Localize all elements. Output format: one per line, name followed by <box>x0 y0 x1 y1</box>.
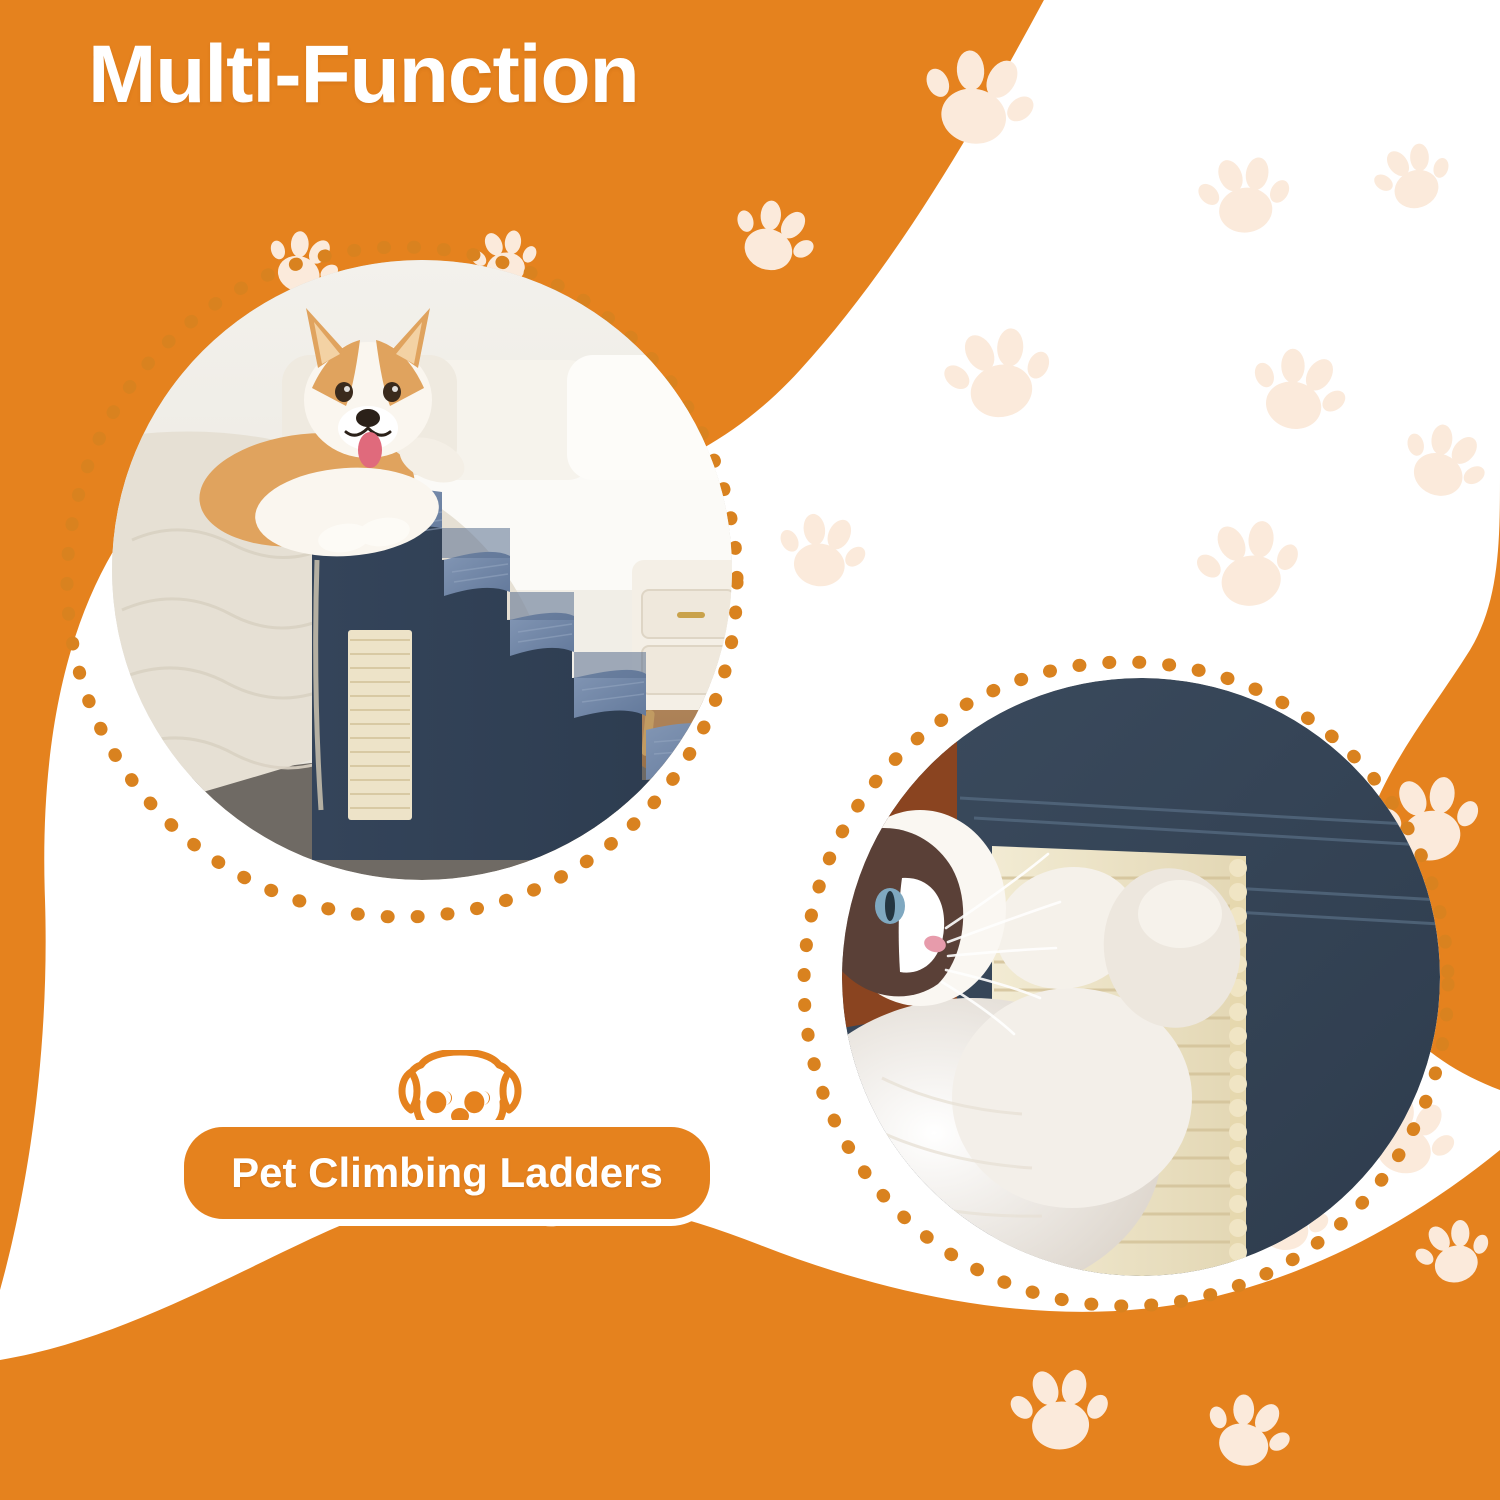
photo-dog-on-stairs <box>112 260 732 880</box>
feature-card-cat-scratcher[interactable]: Cat Scratcher <box>790 648 1462 1320</box>
feature-card-pet-climbing-ladders[interactable]: Pet Climbing Ladders <box>52 232 752 932</box>
photo-cat-scratching <box>842 678 1440 1276</box>
page-title: Multi-Function <box>88 28 639 122</box>
promo-banner: Pet Climbing Ladders <box>0 0 1500 1500</box>
label-pill-pet-climbing-ladders[interactable]: Pet Climbing Ladders <box>177 1120 717 1226</box>
pill-label-dog: Pet Climbing Ladders <box>177 1120 717 1226</box>
